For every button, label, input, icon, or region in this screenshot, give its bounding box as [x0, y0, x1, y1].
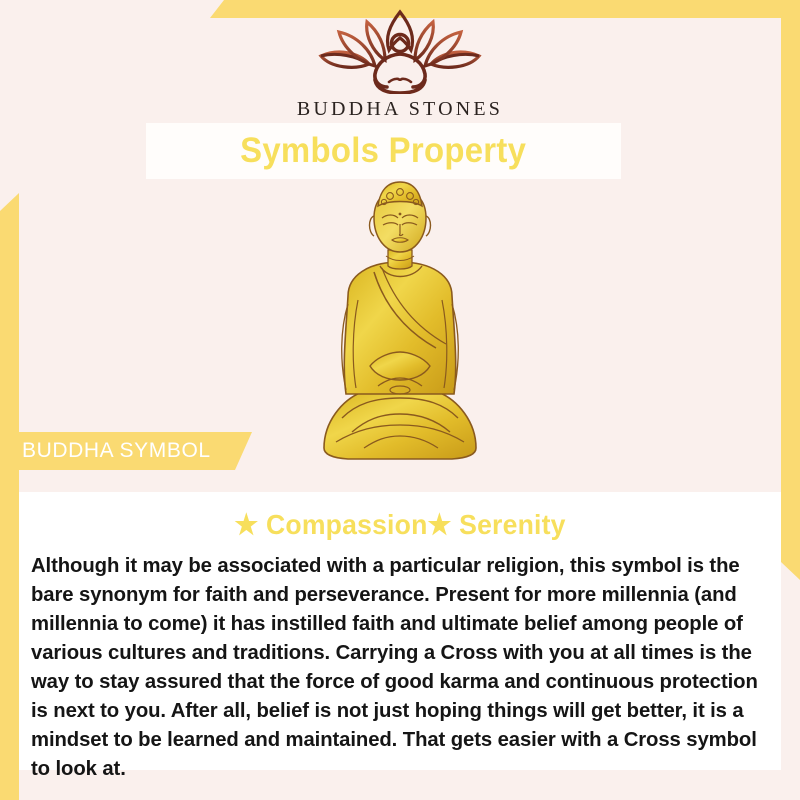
brand-logo-block: BUDDHA STONES — [0, 8, 800, 121]
title-band: Symbols Property — [146, 123, 621, 179]
seated-golden-buddha-statue-icon — [312, 180, 488, 470]
brand-name: BUDDHA STONES — [297, 98, 503, 121]
buddha-symbol-ribbon: BUDDHA SYMBOL — [0, 432, 252, 470]
ribbon-label: BUDDHA SYMBOL — [0, 439, 211, 463]
symbol-description: Although it may be associated with a par… — [31, 551, 762, 783]
content-panel: ★ Compassion★ Serenity Although it may b… — [19, 492, 781, 770]
page-title: Symbols Property — [240, 131, 526, 171]
hero-image — [0, 180, 800, 470]
poster-root: BUDDHA STONES Symbols Property — [0, 0, 800, 800]
attributes-headline: ★ Compassion★ Serenity — [38, 492, 762, 541]
lotus-meditation-figure-icon — [305, 8, 495, 94]
